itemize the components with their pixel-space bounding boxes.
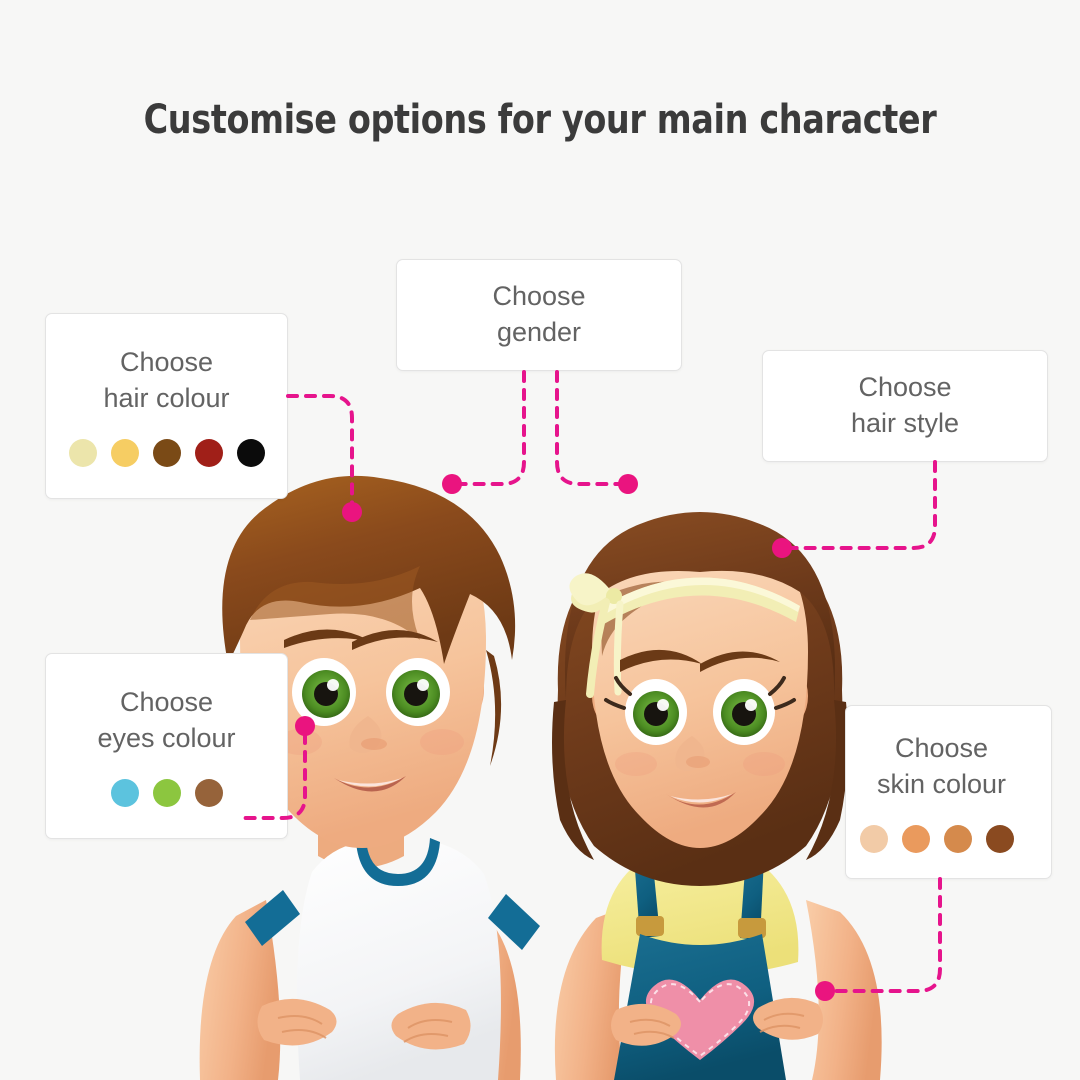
connector-hair-colour	[288, 396, 352, 510]
customiser-screen: Customise options for your main characte…	[0, 0, 1080, 1080]
connector-lines	[0, 0, 1080, 1080]
connector-gender-left	[460, 372, 524, 484]
connector-skin-colour	[833, 879, 940, 991]
connector-dot-gender-left	[442, 474, 462, 494]
connector-hair-style	[790, 462, 935, 548]
connector-dot-skin-colour	[815, 981, 835, 1001]
connector-dot-gender-right	[618, 474, 638, 494]
connector-dot-hair-style	[772, 538, 792, 558]
connector-eyes-colour	[240, 734, 305, 818]
connector-gender-right	[557, 372, 620, 484]
connector-dot-eyes-colour	[295, 716, 315, 736]
connector-dot-hair-colour	[342, 502, 362, 522]
